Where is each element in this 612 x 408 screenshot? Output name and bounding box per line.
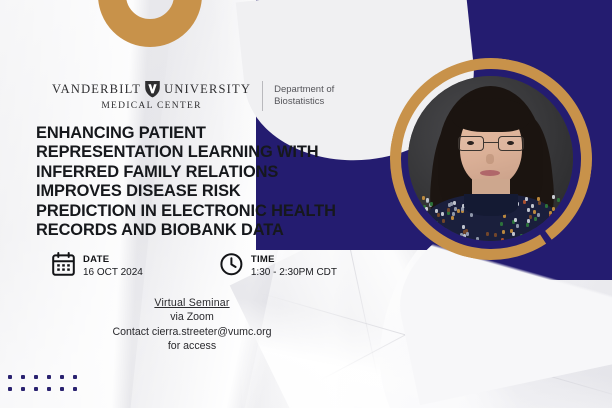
vumc-logo-left: VANDERBILT UNIVERSITY MEDICAL CENTER <box>52 80 251 111</box>
page-title: ENHANCING PATIENT REPRESENTATION LEARNIN… <box>36 124 356 240</box>
seminar-contact[interactable]: Contact cierra.streeter@vumc.org <box>62 325 322 339</box>
calendar-icon <box>52 252 75 281</box>
title-line-1: ENHANCING PATIENT <box>36 124 356 143</box>
logo-department-line1: Department of <box>274 84 334 96</box>
glasses-bridge <box>484 142 498 143</box>
vumc-logo: VANDERBILT UNIVERSITY MEDICAL CENTER Dep… <box>52 80 334 111</box>
portrait-nose <box>486 154 494 164</box>
event-time-value: 1:30 - 2:30PM CDT <box>251 266 337 279</box>
portrait-eye-right <box>507 141 514 145</box>
avatar <box>408 76 573 241</box>
event-date: DATE 16 OCT 2024 <box>52 252 143 281</box>
seminar-info: Virtual Seminar via Zoom Contact cierra.… <box>62 296 322 354</box>
title-line-5: PREDICTION IN ELECTRONIC HEALTH <box>36 202 356 221</box>
logo-department: Department of Biostatistics <box>274 84 334 108</box>
portrait-eye-left <box>467 141 474 145</box>
logo-word-university: UNIVERSITY <box>164 82 251 97</box>
event-meta: DATE 16 OCT 2024 TIME 1:30 - 2:30PM CDT <box>52 252 337 281</box>
portrait-fringe <box>452 98 530 132</box>
event-time-label: TIME <box>251 254 337 266</box>
glasses-icon <box>458 136 524 151</box>
portrait-mouth <box>480 170 500 176</box>
portrait-collar <box>464 194 518 216</box>
logo-word-vanderbilt: VANDERBILT <box>52 82 141 97</box>
clock-icon <box>220 252 243 281</box>
event-date-label: DATE <box>83 254 143 266</box>
vumc-logo-wordmark: VANDERBILT UNIVERSITY <box>52 80 251 98</box>
event-time: TIME 1:30 - 2:30PM CDT <box>220 252 337 281</box>
title-line-4: IMPROVES DISEASE RISK <box>36 182 356 201</box>
seminar-platform: via Zoom <box>62 310 322 324</box>
seminar-contact-suffix: for access <box>62 339 322 353</box>
seminar-heading: Virtual Seminar <box>62 296 322 310</box>
logo-divider <box>262 81 263 111</box>
title-line-3: INFERRED FAMILY RELATIONS <box>36 163 356 182</box>
event-time-text: TIME 1:30 - 2:30PM CDT <box>251 254 337 279</box>
event-date-text: DATE 16 OCT 2024 <box>83 254 143 279</box>
logo-medical-center: MEDICAL CENTER <box>101 101 201 111</box>
title-line-6: RECORDS AND BIOBANK DATA <box>36 221 356 240</box>
event-date-value: 16 OCT 2024 <box>83 266 143 279</box>
logo-department-line2: Biostatistics <box>274 96 334 108</box>
title-line-2: REPRESENTATION LEARNING WITH <box>36 143 356 162</box>
vanderbilt-v-shield-icon <box>144 80 161 98</box>
seminar-poster: VANDERBILT UNIVERSITY MEDICAL CENTER Dep… <box>0 0 612 408</box>
